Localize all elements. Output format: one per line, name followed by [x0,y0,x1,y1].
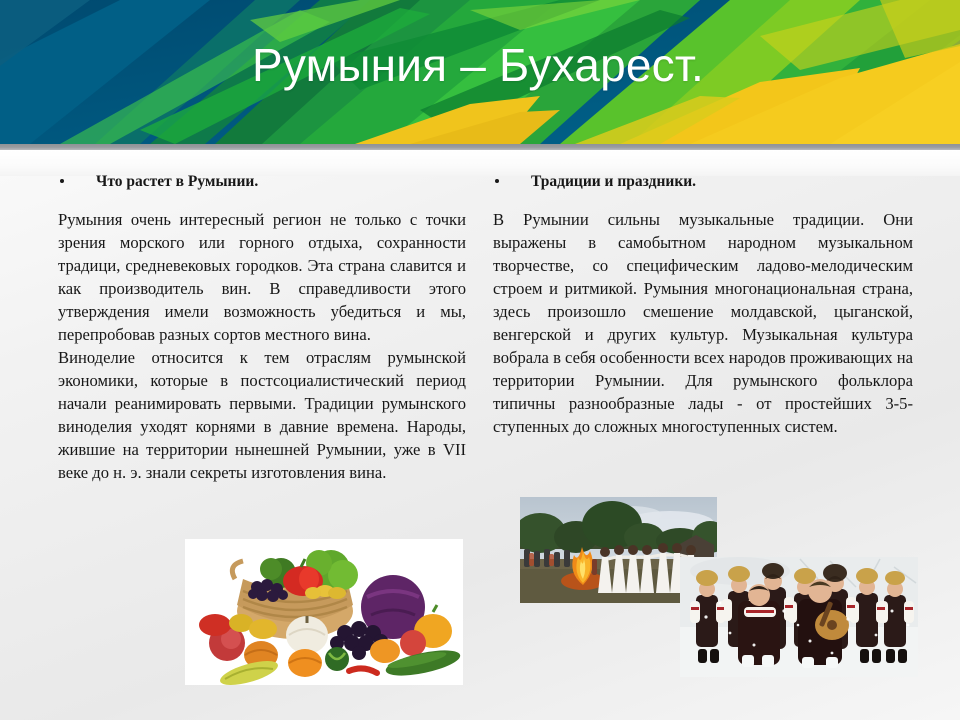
left-paragraph-2: Виноделие относится к тем отраслям румын… [58,347,466,485]
left-column-heading: Что растет в Румынии. [58,172,466,191]
left-heading-text: Что растет в Румынии. [96,173,258,190]
presentation-slide: Румыния – Бухарест. Что растет в Румынии… [0,0,960,720]
right-content-column: Традиции и праздники. В Румынии сильны м… [493,172,913,439]
bullet-dot-icon [495,179,499,183]
winter-folk-musicians-photo [680,557,918,677]
left-content-column: Что растет в Румынии. Румыния очень инте… [58,172,466,485]
vegetables-harvest-photo [185,539,463,685]
right-column-heading: Традиции и праздники. [493,172,913,191]
bullet-dot-icon [60,179,64,183]
right-paragraph-1: В Румынии сильны музыкальные традиции. О… [493,209,913,439]
header-banner: Румыния – Бухарест. [0,0,960,144]
page-title: Румыния – Бухарест. [0,42,956,88]
right-heading-text: Традиции и праздники. [531,173,696,190]
left-paragraph-1: Румыния очень интересный регион не тольк… [58,209,466,347]
